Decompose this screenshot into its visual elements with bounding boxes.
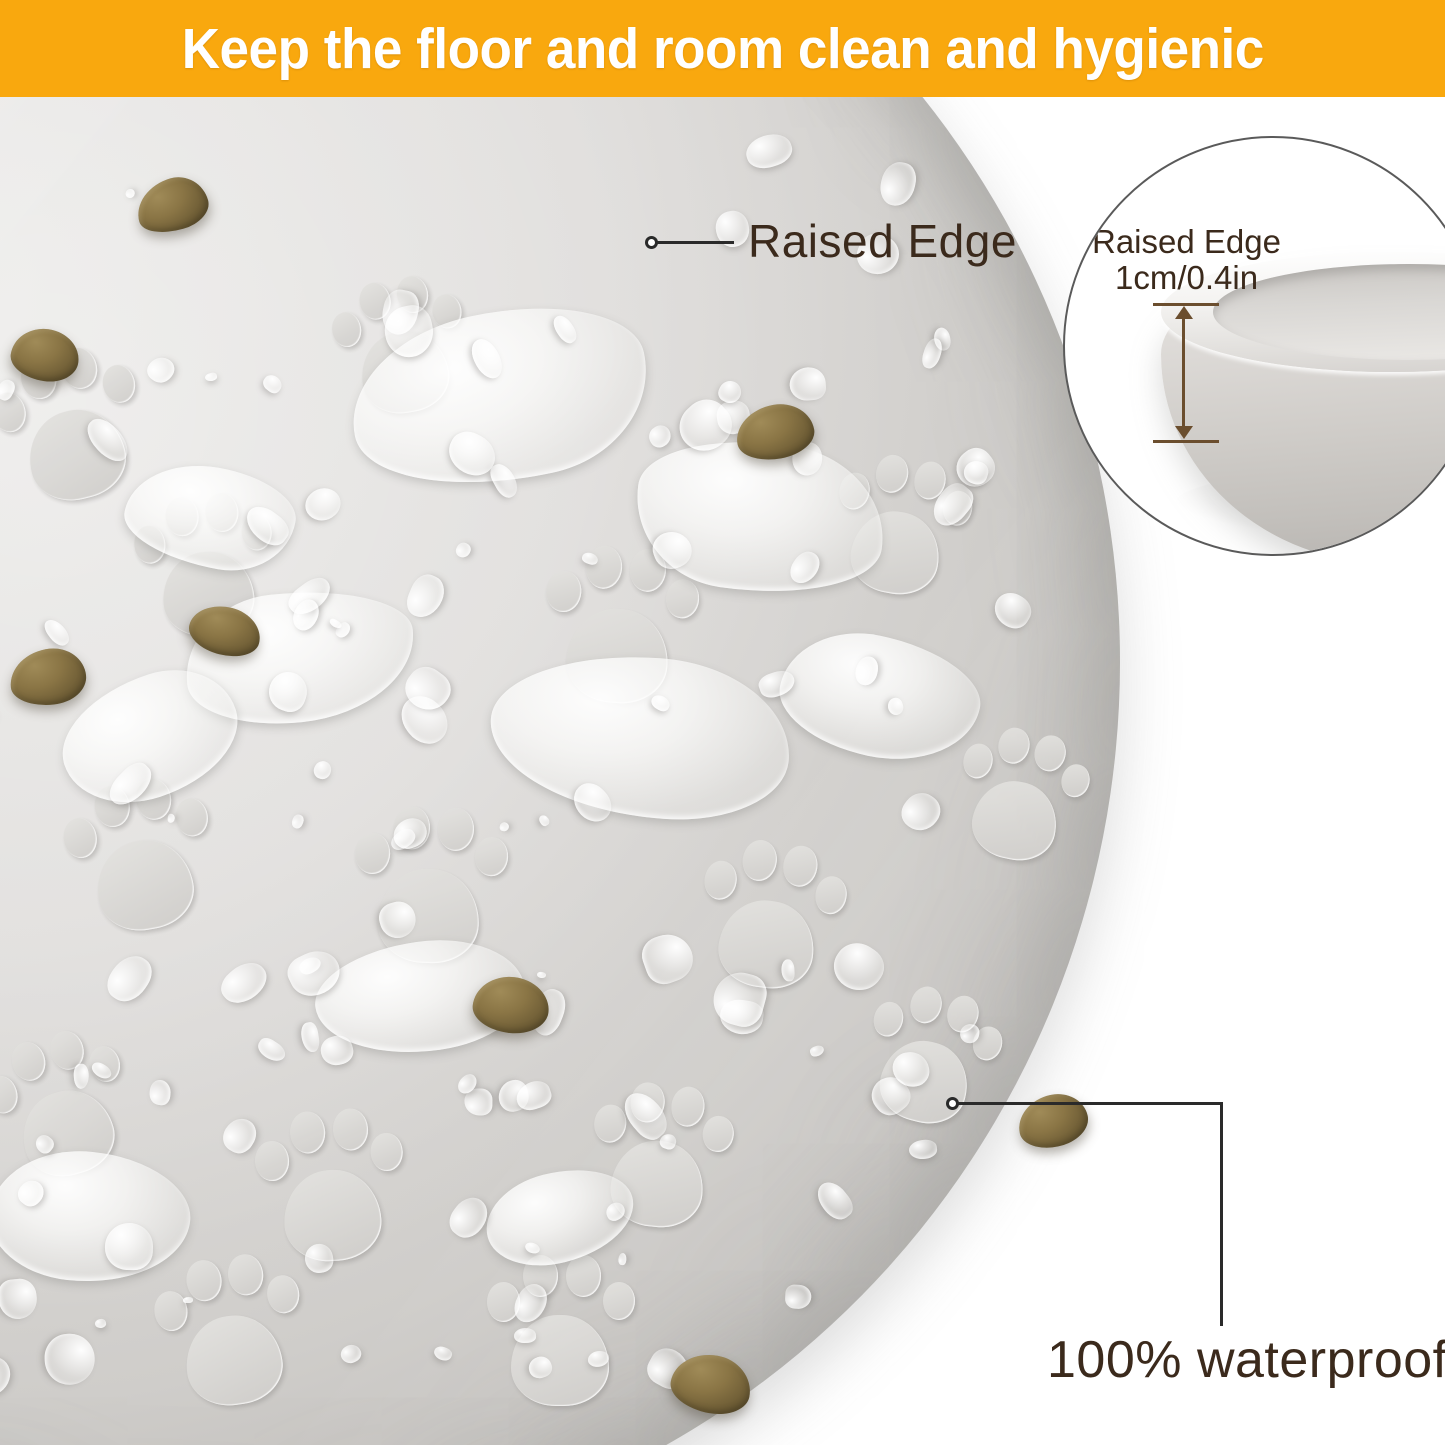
- paw-toe: [355, 832, 391, 875]
- paw-toe: [0, 1072, 22, 1117]
- paw-toe: [960, 741, 996, 781]
- paw-toe: [740, 838, 779, 883]
- paw-toe: [566, 1255, 601, 1297]
- paw-print: [144, 1240, 316, 1424]
- inset-title: Raised Edge: [1092, 224, 1281, 261]
- waterproof-leader-line-v: [1220, 1102, 1223, 1326]
- paw-toe: [369, 1131, 404, 1172]
- paw-pad: [280, 1167, 384, 1264]
- dimension-shaft: [1182, 310, 1185, 434]
- paw-pad: [965, 774, 1064, 868]
- water-droplet: [781, 959, 795, 982]
- paw-print: [484, 1248, 637, 1416]
- dimension-tick-bottom: [1153, 440, 1219, 443]
- paw-print: [686, 827, 854, 1008]
- headline-banner: Keep the floor and room clean and hygien…: [0, 0, 1445, 97]
- paw-toe: [438, 808, 476, 853]
- water-droplet: [514, 1328, 537, 1344]
- paw-toe: [812, 875, 848, 916]
- waterproof-leader-dot: [946, 1097, 959, 1110]
- paw-toe: [152, 1288, 190, 1332]
- waterproof-leader-line-h: [957, 1102, 1223, 1105]
- paw-toe: [60, 815, 99, 860]
- inset-measurement: 1cm/0.4in: [1115, 260, 1258, 297]
- raised-edge-leader-dot: [645, 236, 658, 249]
- paw-toe: [592, 1103, 627, 1144]
- paw-toe: [173, 795, 211, 838]
- paw-toe: [545, 570, 582, 614]
- paw-pad: [180, 1309, 287, 1411]
- paw-toe: [603, 1282, 635, 1321]
- paw-toe: [184, 1257, 224, 1303]
- paw-toe: [1058, 762, 1092, 800]
- paw-toe: [869, 998, 906, 1040]
- paw-toe: [265, 1273, 301, 1315]
- paw-toe: [701, 1114, 735, 1153]
- paw-toe: [906, 983, 945, 1027]
- paw-toe: [665, 578, 701, 620]
- paw-toe: [781, 844, 820, 889]
- product-marketing-image: Keep the floor and room clean and hygien…: [0, 0, 1445, 1445]
- paw-toe: [253, 1139, 289, 1182]
- paw-toe: [1031, 733, 1068, 775]
- paw-toe: [995, 725, 1032, 767]
- dimension-arrowhead-down: [1175, 426, 1193, 439]
- paw-toe: [474, 837, 508, 878]
- headline-text: Keep the floor and room clean and hygien…: [181, 16, 1263, 82]
- water-droplet: [104, 1222, 153, 1270]
- paw-toe: [873, 452, 911, 495]
- paw-toe: [701, 859, 738, 902]
- paw-pad: [90, 832, 200, 936]
- paw-toe: [7, 1038, 49, 1085]
- callout-raised-edge-label: Raised Edge: [748, 214, 1017, 268]
- paw-toe: [585, 545, 624, 591]
- paw-toe: [669, 1085, 706, 1128]
- paw-toe: [225, 1251, 265, 1297]
- paw-toe: [331, 1107, 369, 1151]
- raised-edge-leader-line: [656, 241, 734, 244]
- paw-toe: [99, 361, 139, 405]
- callout-waterproof-label: 100% waterproof: [1047, 1330, 1445, 1390]
- paw-toe: [328, 309, 363, 349]
- paw-toe: [288, 1110, 326, 1154]
